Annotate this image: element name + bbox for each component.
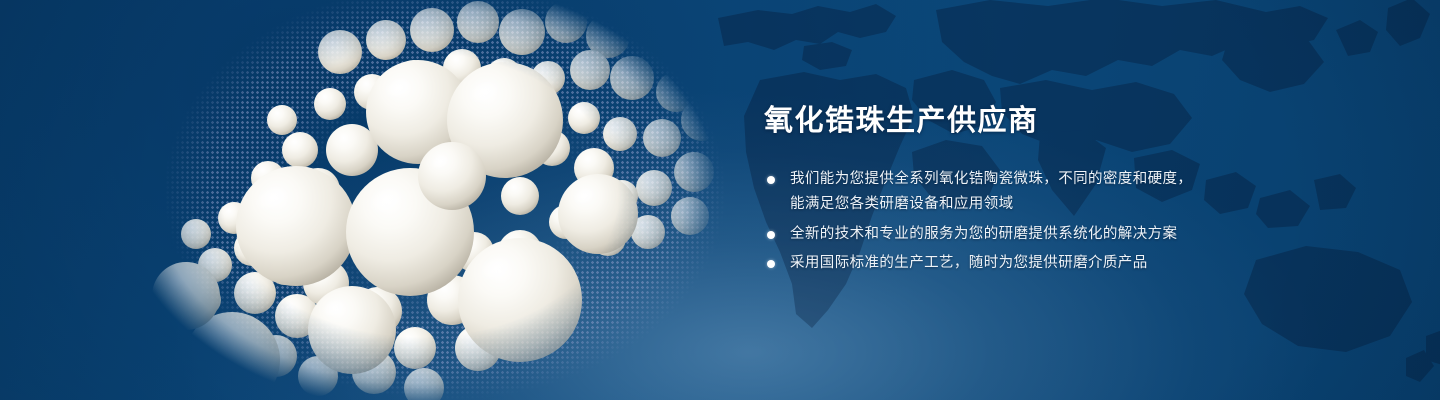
list-item-line-1: 采用国际标准的生产工艺，随时为您提供研磨介质产品	[790, 251, 1234, 277]
list-item: 我们能为您提供全系列氧化锆陶瓷微珠，不同的密度和硬度， 能满足您各类研磨设备和应…	[764, 167, 1234, 218]
dot-bullet-icon	[767, 176, 775, 184]
zirconia-beads-photo	[0, 0, 780, 400]
dot-bullet-icon	[767, 231, 775, 239]
list-item: 采用国际标准的生产工艺，随时为您提供研磨介质产品	[764, 251, 1234, 277]
banner-copy: 氧化锆珠生产供应商 我们能为您提供全系列氧化锆陶瓷微珠，不同的密度和硬度， 能满…	[764, 104, 1234, 281]
hero-banner: 氧化锆珠生产供应商 我们能为您提供全系列氧化锆陶瓷微珠，不同的密度和硬度， 能满…	[0, 0, 1440, 400]
list-item-line-1: 我们能为您提供全系列氧化锆陶瓷微珠，不同的密度和硬度，	[790, 167, 1234, 193]
list-item-line-2: 能满足您各类研磨设备和应用领域	[790, 192, 1234, 218]
page-title: 氧化锆珠生产供应商	[764, 104, 1234, 139]
dot-bullet-icon	[767, 260, 775, 268]
list-item: 全新的技术和专业的服务为您的研磨提供系统化的解决方案	[764, 222, 1234, 248]
feature-list: 我们能为您提供全系列氧化锆陶瓷微珠，不同的密度和硬度， 能满足您各类研磨设备和应…	[764, 167, 1234, 277]
list-item-line-1: 全新的技术和专业的服务为您的研磨提供系统化的解决方案	[790, 222, 1234, 248]
